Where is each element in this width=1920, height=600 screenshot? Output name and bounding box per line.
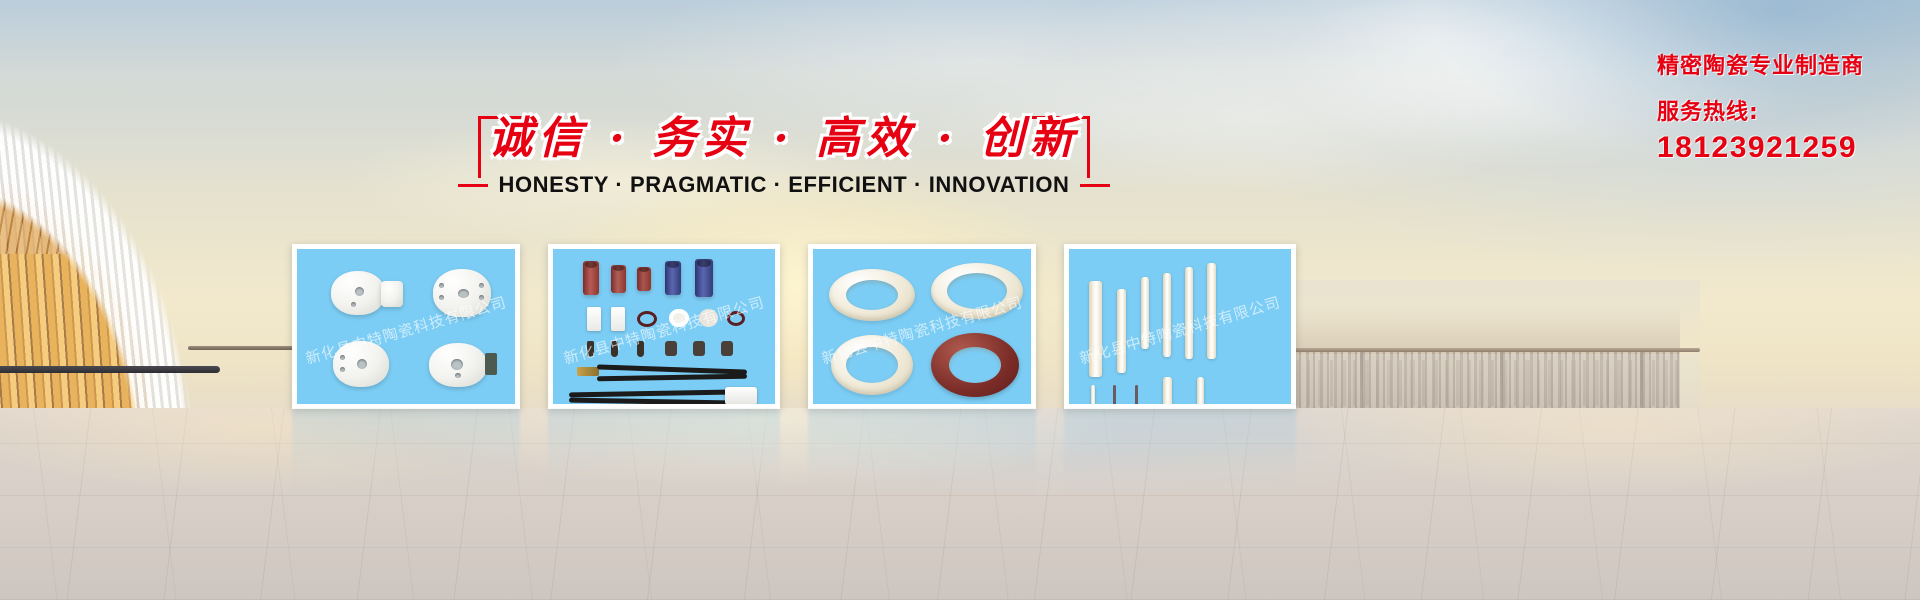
ceramic-hole (351, 302, 356, 307)
ceramic-tube (695, 259, 713, 297)
ceramic-rod (1185, 267, 1193, 359)
ceramic-hole (439, 283, 444, 288)
ceramic-part (429, 343, 487, 387)
metal-terminal (577, 367, 599, 376)
floor-light-reflection (0, 408, 1920, 600)
ceramic-rod (1163, 273, 1171, 357)
ceramic-hole (340, 367, 345, 372)
ceramic-pin (637, 341, 644, 357)
bracket-top-right-icon (1032, 116, 1090, 178)
ceramic-chip (611, 307, 625, 331)
slogan-english-row: HONESTY · PRAGMATIC · EFFICIENT · INNOVA… (478, 172, 1090, 198)
slogan-english: HONESTY · PRAGMATIC · EFFICIENT · INNOVA… (498, 172, 1069, 198)
hotline-number: 18123921259 (1657, 130, 1864, 166)
product-panel-1-image: 新化县中特陶瓷科技有限公司 (297, 249, 515, 404)
ceramic-hole (479, 283, 484, 288)
ceramic-part (433, 269, 491, 317)
white-connector (725, 387, 757, 404)
black-wire (597, 374, 747, 382)
ring-hole (846, 280, 898, 310)
ceramic-pin (693, 341, 705, 356)
bracket-top-left-icon (478, 116, 536, 178)
product-panel-row: 新化县中特陶瓷科技有限公司 (292, 244, 1526, 409)
ceramic-rod (1117, 289, 1126, 373)
ceramic-part (381, 281, 403, 307)
ceramic-tube (665, 261, 681, 295)
ceramic-contact (485, 353, 497, 375)
ceramic-hole (439, 295, 444, 300)
ceramic-ring (931, 263, 1023, 319)
ceramic-pin (721, 341, 733, 356)
sky-blue-patch (1160, 0, 1920, 250)
ceramic-hole (451, 359, 463, 370)
product-panel-4-image: 新化县中特陶瓷科技有限公司 (1069, 249, 1291, 404)
ceramic-ring (829, 269, 915, 321)
ceramic-hole (355, 287, 364, 296)
panel-watermark: 新化县中特陶瓷科技有限公司 (1077, 291, 1283, 369)
ceramic-washer (669, 309, 689, 327)
black-wire (569, 390, 729, 398)
ceramic-chip (587, 307, 601, 331)
product-panel-3-image: 新化县中特陶瓷科技有限公司 (813, 249, 1031, 404)
ceramic-tube (583, 261, 599, 295)
ring-hole (846, 347, 898, 383)
ceramic-hole (455, 373, 461, 378)
ceramic-rod (1163, 377, 1172, 404)
ceramic-pin (1113, 385, 1116, 404)
ceramic-pin (1135, 385, 1138, 404)
left-dark-handrail (0, 366, 220, 373)
ceramic-tube (637, 267, 651, 291)
ceramic-pin (587, 341, 594, 357)
company-tagline: 精密陶瓷专业制造商 (1657, 52, 1864, 82)
ring-hole (947, 273, 1007, 309)
contact-block: 精密陶瓷专业制造商 服务热线: 18123921259 (1657, 52, 1864, 166)
product-panel-4[interactable]: 新化县中特陶瓷科技有限公司 (1064, 244, 1296, 409)
product-panel-3[interactable]: 新化县中特陶瓷科技有限公司 (808, 244, 1036, 409)
ceramic-pin (665, 341, 677, 356)
reflective-floor (0, 408, 1920, 600)
product-panel-2[interactable]: 新化县中特陶瓷科技有限公司 (548, 244, 780, 409)
ceramic-rod (1141, 277, 1149, 349)
rule-left-icon (458, 184, 488, 187)
product-panel-1[interactable]: 新化县中特陶瓷科技有限公司 (292, 244, 520, 409)
ceramic-part (331, 271, 385, 315)
ceramic-part (333, 341, 389, 387)
red-seal-ring (931, 333, 1019, 397)
ceramic-hole (357, 359, 367, 369)
ceramic-ring-small (637, 311, 657, 327)
ceramic-tube (611, 265, 626, 293)
ceramic-pin (611, 341, 618, 357)
product-panel-2-image: 新化县中特陶瓷科技有限公司 (553, 249, 775, 404)
left-wooden-louvers-top (0, 0, 240, 254)
left-handrail (188, 346, 306, 350)
ceramic-rod (1089, 281, 1102, 377)
ceramic-hole (340, 355, 345, 360)
promotional-banner: 诚信 · 务实 · 高效 · 创新 HONESTY · PRAGMATIC · … (0, 0, 1920, 600)
ceramic-rod (1207, 263, 1216, 359)
ceramic-pin (1091, 385, 1095, 404)
ceramic-ring (831, 335, 913, 395)
slogan-block: 诚信 · 务实 · 高效 · 创新 HONESTY · PRAGMATIC · … (478, 108, 1090, 198)
rule-right-icon (1080, 184, 1110, 187)
ceramic-ring-small (727, 311, 745, 326)
ceramic-washer (699, 309, 718, 327)
ceramic-hole (458, 289, 469, 298)
slogan-chinese: 诚信 · 务实 · 高效 · 创新 (478, 108, 1090, 170)
ring-hole (949, 347, 1001, 383)
black-wire (569, 398, 729, 404)
ceramic-rod (1197, 377, 1204, 404)
hotline-label: 服务热线: (1657, 96, 1864, 130)
ceramic-hole (479, 295, 484, 300)
